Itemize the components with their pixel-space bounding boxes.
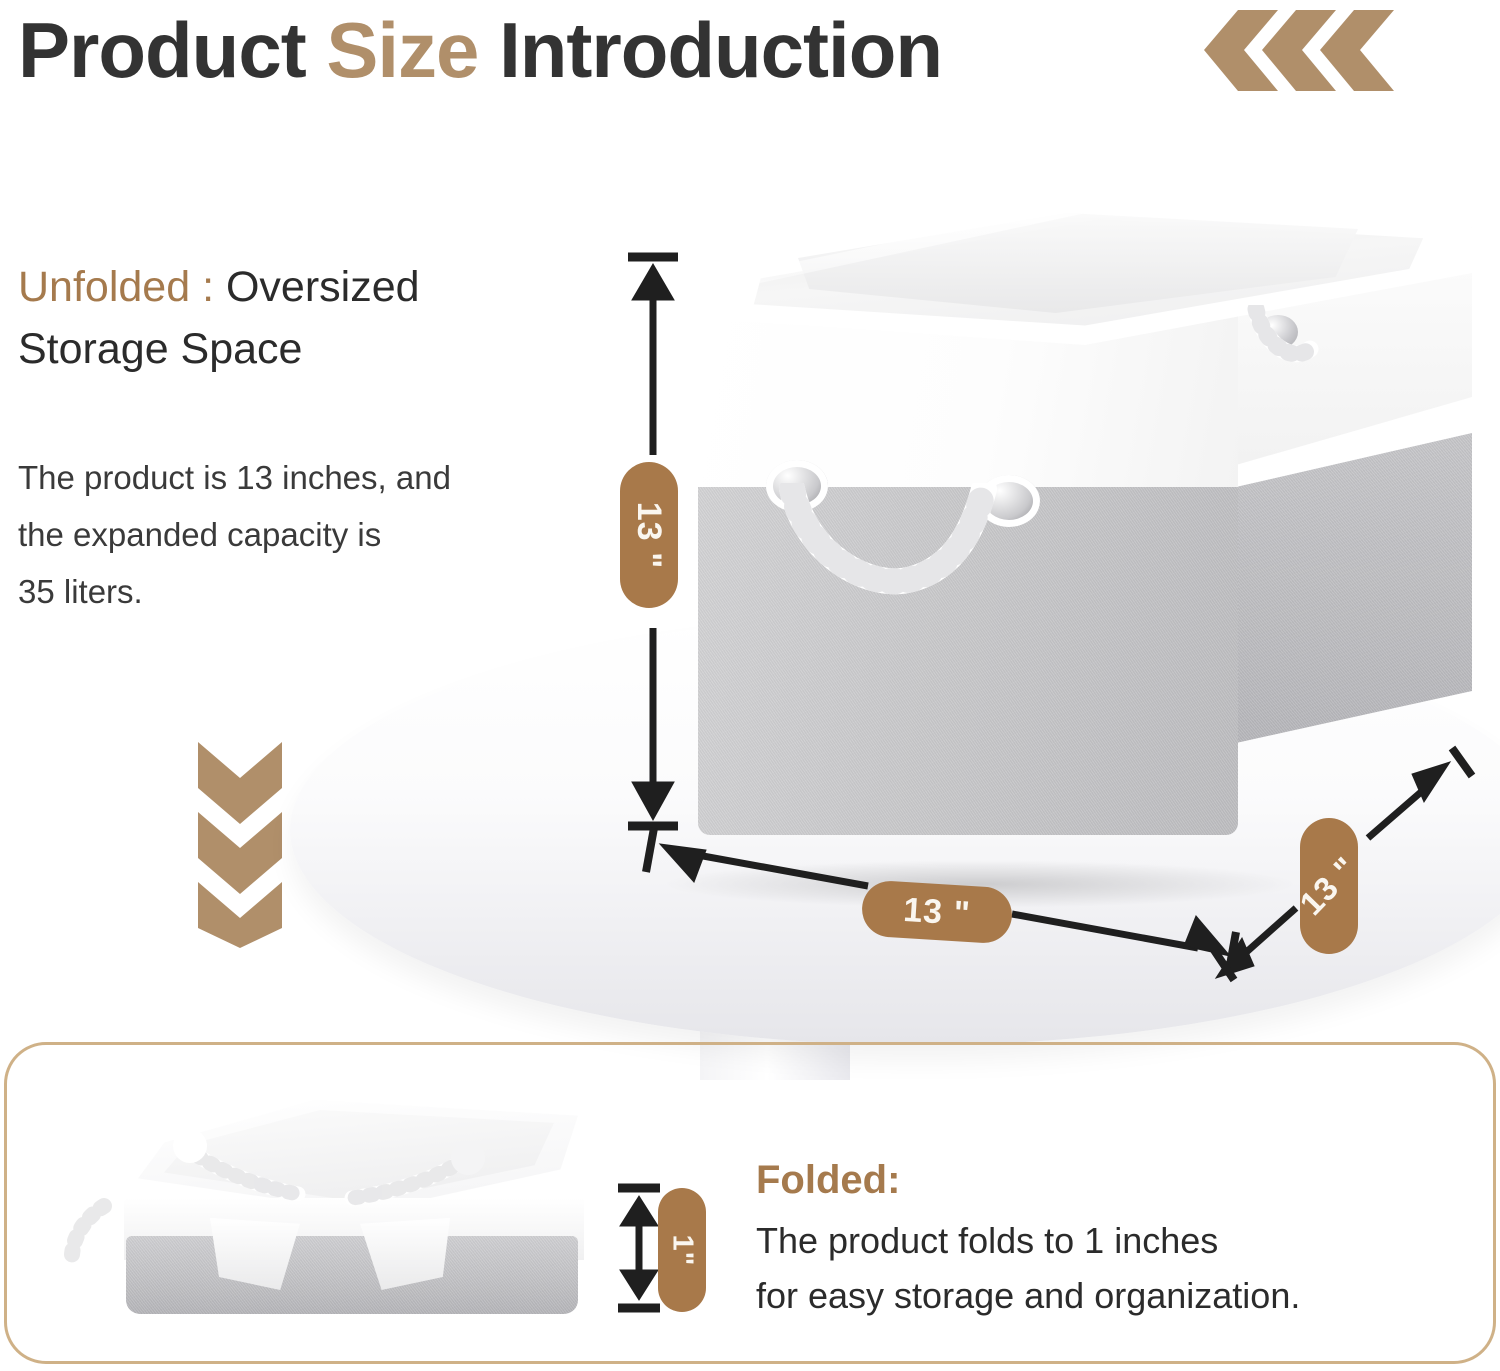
folded-height-label: 1"	[658, 1188, 706, 1312]
folded-side-rope	[52, 1198, 142, 1278]
rope-handle-front	[778, 483, 1018, 595]
depth-dimension-label: 13 "	[1300, 818, 1358, 954]
page-title-part1: Product	[18, 6, 326, 94]
storage-basket-folded	[60, 1090, 620, 1320]
page-title-part2: Introduction	[478, 6, 942, 94]
height-dimension-text: 13 "	[630, 501, 669, 568]
width-dimension-label: 13 "	[860, 879, 1013, 944]
rope-handle-side	[1244, 305, 1324, 375]
infographic-canvas: Product Size Introduction Unfolded : Ove…	[0, 0, 1500, 1371]
folded-body-line1: The product folds to 1 inches	[756, 1214, 1456, 1269]
basket-side-gray-panel	[1236, 433, 1472, 793]
folded-body-line2: for easy storage and organization.	[756, 1269, 1456, 1324]
height-dimension-label: 13 "	[620, 462, 678, 608]
depth-dimension-text: 13 "	[1293, 849, 1366, 923]
width-dimension-text: 13 "	[902, 890, 972, 933]
folded-body: The product folds to 1 inches for easy s…	[756, 1214, 1456, 1323]
folded-gray-body	[126, 1236, 578, 1314]
folded-rope-handles	[146, 1116, 506, 1226]
page-title-accent: Size	[326, 6, 478, 94]
triple-chevron-left-icon	[1186, 8, 1396, 93]
title-row: Product Size Introduction	[18, 0, 1478, 105]
folded-height-text: 1"	[665, 1234, 698, 1266]
page-title: Product Size Introduction	[18, 0, 942, 103]
folded-heading: Folded:	[756, 1158, 900, 1203]
